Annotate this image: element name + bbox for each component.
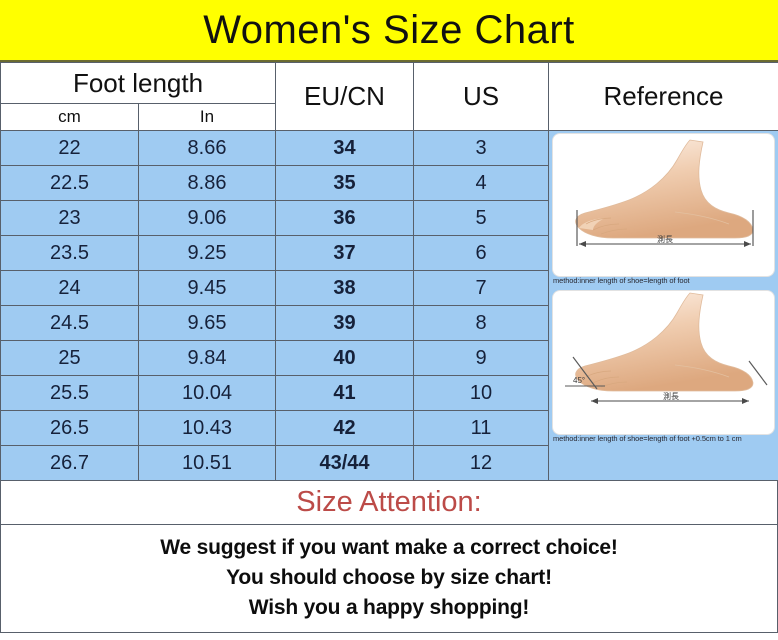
- header-row-primary: Foot length EU/CN US Reference: [1, 63, 778, 104]
- cell-eu: 36: [276, 201, 414, 236]
- cell-us: 3: [414, 131, 549, 166]
- measure-label-1: 測長: [657, 234, 673, 244]
- cell-us: 7: [414, 271, 549, 306]
- table-body: 22 8.66 34 3: [1, 131, 778, 481]
- reference-caption-2: method:inner length of shoe=length of fo…: [549, 434, 778, 446]
- cell-in: 9.25: [139, 236, 276, 271]
- cell-eu: 35: [276, 166, 414, 201]
- cell-in: 8.86: [139, 166, 276, 201]
- advice-line-3: Wish you a happy shopping!: [1, 593, 777, 623]
- cell-in: 10.04: [139, 376, 276, 411]
- header-unit-cm: cm: [1, 104, 139, 131]
- cell-us: 4: [414, 166, 549, 201]
- cell-eu: 39: [276, 306, 414, 341]
- cell-cm: 26.5: [1, 411, 139, 446]
- cell-eu: 41: [276, 376, 414, 411]
- cell-in: 9.06: [139, 201, 276, 236]
- cell-us: 8: [414, 306, 549, 341]
- title-banner: Women's Size Chart: [0, 0, 778, 62]
- cell-eu: 40: [276, 341, 414, 376]
- reference-stack: 測長 method:inner length of shoe=length of…: [549, 131, 778, 480]
- foot-side-view-angled-measure-icon: 45° 測長: [553, 291, 774, 416]
- cell-us: 6: [414, 236, 549, 271]
- size-attention-heading: Size Attention:: [296, 488, 481, 517]
- cell-cm: 23.5: [1, 236, 139, 271]
- foot-diagram-angled-panel: 45° 測長: [553, 291, 774, 434]
- cell-us: 11: [414, 411, 549, 446]
- cell-eu: 38: [276, 271, 414, 306]
- cell-in: 9.84: [139, 341, 276, 376]
- cell-cm: 25: [1, 341, 139, 376]
- size-table: Foot length EU/CN US Reference cm In 22 …: [0, 62, 778, 481]
- table-row: 22 8.66 34 3: [1, 131, 778, 166]
- cell-us: 12: [414, 446, 549, 481]
- angle-label: 45°: [573, 376, 585, 385]
- cell-cm: 23: [1, 201, 139, 236]
- header-reference: Reference: [549, 63, 778, 131]
- cell-us: 10: [414, 376, 549, 411]
- foot-side-view-straight-measure-icon: 測長: [553, 134, 774, 258]
- cell-eu: 34: [276, 131, 414, 166]
- advice-line-2: You should choose by size chart!: [1, 563, 777, 593]
- cell-us: 9: [414, 341, 549, 376]
- size-attention-row: Size Attention:: [0, 481, 778, 525]
- cell-eu: 43/44: [276, 446, 414, 481]
- cell-cm: 22.5: [1, 166, 139, 201]
- header-us: US: [414, 63, 549, 131]
- cell-cm: 24.5: [1, 306, 139, 341]
- cell-us: 5: [414, 201, 549, 236]
- cell-cm: 22: [1, 131, 139, 166]
- cell-cm: 24: [1, 271, 139, 306]
- header-unit-in: In: [139, 104, 276, 131]
- cell-cm: 26.7: [1, 446, 139, 481]
- cell-eu: 42: [276, 411, 414, 446]
- foot-diagram-straight-panel: 測長: [553, 134, 774, 276]
- header-foot-length: Foot length: [1, 63, 276, 104]
- cell-in: 9.45: [139, 271, 276, 306]
- cell-eu: 37: [276, 236, 414, 271]
- cell-in: 10.51: [139, 446, 276, 481]
- header-eu-cn: EU/CN: [276, 63, 414, 131]
- cell-in: 9.65: [139, 306, 276, 341]
- reference-caption-1: method:inner length of shoe=length of fo…: [549, 276, 778, 288]
- cell-cm: 25.5: [1, 376, 139, 411]
- size-advice-box: We suggest if you want make a correct ch…: [0, 525, 778, 633]
- table-header: Foot length EU/CN US Reference cm In: [1, 63, 778, 131]
- cell-in: 8.66: [139, 131, 276, 166]
- womens-size-chart: Women's Size Chart Foot length EU/CN US …: [0, 0, 778, 640]
- page-title: Women's Size Chart: [203, 10, 575, 50]
- advice-line-1: We suggest if you want make a correct ch…: [1, 533, 777, 563]
- cell-in: 10.43: [139, 411, 276, 446]
- measure-label-2: 測長: [663, 391, 679, 401]
- reference-cell: 測長 method:inner length of shoe=length of…: [549, 131, 778, 481]
